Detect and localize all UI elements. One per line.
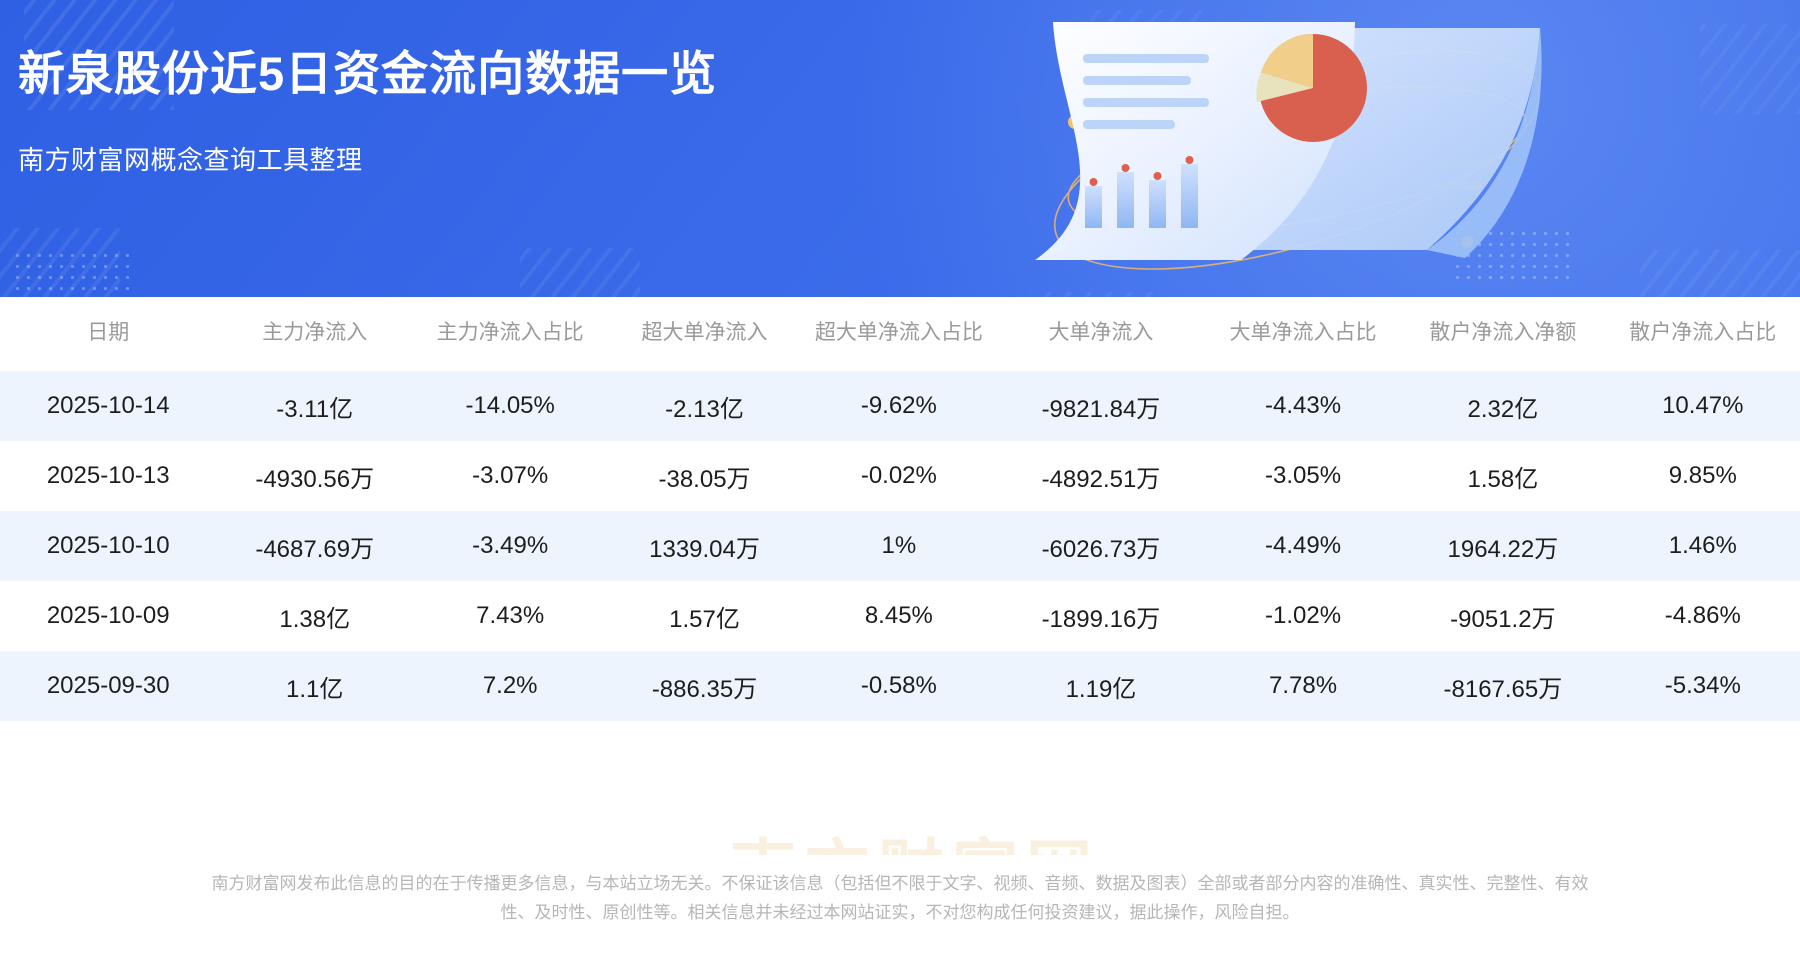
- cell-main-pct: -14.05%: [413, 371, 607, 441]
- table-row[interactable]: 2025-10-13 -4930.56万 -3.07% -38.05万 -0.0…: [0, 441, 1800, 511]
- column-header-retail-net[interactable]: 散户净流入净额: [1400, 297, 1605, 371]
- disclaimer-line-1: 南方财富网发布此信息的目的在于传播更多信息，与本站立场无关。不保证该信息（包括但…: [14, 869, 1786, 899]
- cell-xl-net: -886.35万: [607, 651, 801, 721]
- cell-xl-pct: 1%: [802, 511, 996, 581]
- column-header-main-pct[interactable]: 主力净流入占比: [413, 297, 607, 371]
- decor-stripes-icon: [1700, 24, 1800, 114]
- cell-main-net: -4687.69万: [216, 511, 413, 581]
- cell-date: 2025-09-30: [0, 651, 216, 721]
- cell-retail-pct: 9.85%: [1606, 441, 1800, 511]
- cell-retail-net: 1964.22万: [1400, 511, 1605, 581]
- column-header-lg-pct[interactable]: 大单净流入占比: [1206, 297, 1400, 371]
- decor-stripes-icon: [1640, 250, 1800, 297]
- table-row[interactable]: 2025-09-30 1.1亿 7.2% -886.35万 -0.58% 1.1…: [0, 651, 1800, 721]
- cell-main-net: 1.38亿: [216, 581, 413, 651]
- decor-stripes-icon: [0, 228, 120, 297]
- column-header-xl-pct[interactable]: 超大单净流入占比: [802, 297, 996, 371]
- cell-retail-net: -8167.65万: [1400, 651, 1605, 721]
- fund-flow-table-area: 南方财富网 Southmoney.com 日期 主力净流入 主力净流入占比 超大…: [0, 297, 1800, 721]
- cell-lg-net: -9821.84万: [996, 371, 1206, 441]
- cell-retail-net: 2.32亿: [1400, 371, 1605, 441]
- cell-xl-net: 1.57亿: [607, 581, 801, 651]
- cell-main-pct: -3.49%: [413, 511, 607, 581]
- cell-lg-pct: -4.49%: [1206, 511, 1400, 581]
- cell-retail-pct: -4.86%: [1606, 581, 1800, 651]
- cell-retail-net: 1.58亿: [1400, 441, 1605, 511]
- cell-date: 2025-10-14: [0, 371, 216, 441]
- column-header-retail-pct[interactable]: 散户净流入占比: [1606, 297, 1800, 371]
- column-header-date[interactable]: 日期: [0, 297, 216, 371]
- report-illustration: [1035, 10, 1555, 290]
- cell-lg-pct: -4.43%: [1206, 371, 1400, 441]
- cell-date: 2025-10-09: [0, 581, 216, 651]
- decor-stripes-icon: [520, 248, 640, 297]
- table-header-row: 日期 主力净流入 主力净流入占比 超大单净流入 超大单净流入占比 大单净流入 大…: [0, 297, 1800, 371]
- cell-main-pct: 7.2%: [413, 651, 607, 721]
- banner-text-block: 新泉股份近5日资金流向数据一览 南方财富网概念查询工具整理: [18, 46, 717, 177]
- cell-xl-pct: 8.45%: [802, 581, 996, 651]
- table-row[interactable]: 2025-10-10 -4687.69万 -3.49% 1339.04万 1% …: [0, 511, 1800, 581]
- column-header-xl-net[interactable]: 超大单净流入: [607, 297, 801, 371]
- cell-retail-net: -9051.2万: [1400, 581, 1605, 651]
- cell-main-net: -3.11亿: [216, 371, 413, 441]
- cell-xl-net: -2.13亿: [607, 371, 801, 441]
- page-title: 新泉股份近5日资金流向数据一览: [18, 46, 717, 102]
- cell-lg-pct: 7.78%: [1206, 651, 1400, 721]
- column-header-lg-net[interactable]: 大单净流入: [996, 297, 1206, 371]
- table-row[interactable]: 2025-10-14 -3.11亿 -14.05% -2.13亿 -9.62% …: [0, 371, 1800, 441]
- cell-xl-net: -38.05万: [607, 441, 801, 511]
- cell-main-pct: -3.07%: [413, 441, 607, 511]
- cell-lg-net: -1899.16万: [996, 581, 1206, 651]
- cell-lg-net: -4892.51万: [996, 441, 1206, 511]
- cell-retail-pct: 1.46%: [1606, 511, 1800, 581]
- cell-date: 2025-10-10: [0, 511, 216, 581]
- cell-retail-pct: -5.34%: [1606, 651, 1800, 721]
- cell-lg-net: -6026.73万: [996, 511, 1206, 581]
- page-banner: 新泉股份近5日资金流向数据一览 南方财富网概念查询工具整理: [0, 0, 1800, 297]
- disclaimer-footer: 南方财富网发布此信息的目的在于传播更多信息，与本站立场无关。不保证该信息（包括但…: [0, 855, 1800, 955]
- cell-lg-net: 1.19亿: [996, 651, 1206, 721]
- cell-retail-pct: 10.47%: [1606, 371, 1800, 441]
- fund-flow-table: 日期 主力净流入 主力净流入占比 超大单净流入 超大单净流入占比 大单净流入 大…: [0, 297, 1800, 721]
- table-row[interactable]: 2025-10-09 1.38亿 7.43% 1.57亿 8.45% -1899…: [0, 581, 1800, 651]
- cell-xl-pct: -9.62%: [802, 371, 996, 441]
- cell-lg-pct: -1.02%: [1206, 581, 1400, 651]
- cell-lg-pct: -3.05%: [1206, 441, 1400, 511]
- cell-main-net: 1.1亿: [216, 651, 413, 721]
- page-subtitle: 南方财富网概念查询工具整理: [18, 140, 717, 177]
- cell-main-pct: 7.43%: [413, 581, 607, 651]
- cell-xl-pct: -0.58%: [802, 651, 996, 721]
- cell-xl-net: 1339.04万: [607, 511, 801, 581]
- column-header-main-net[interactable]: 主力净流入: [216, 297, 413, 371]
- disclaimer-line-2: 性、及时性、原创性等。相关信息并未经过本网站证实，不对您构成任何投资建议，据此操…: [14, 898, 1786, 928]
- cell-xl-pct: -0.02%: [802, 441, 996, 511]
- cell-main-net: -4930.56万: [216, 441, 413, 511]
- decor-dots-icon: [12, 250, 132, 296]
- cell-date: 2025-10-13: [0, 441, 216, 511]
